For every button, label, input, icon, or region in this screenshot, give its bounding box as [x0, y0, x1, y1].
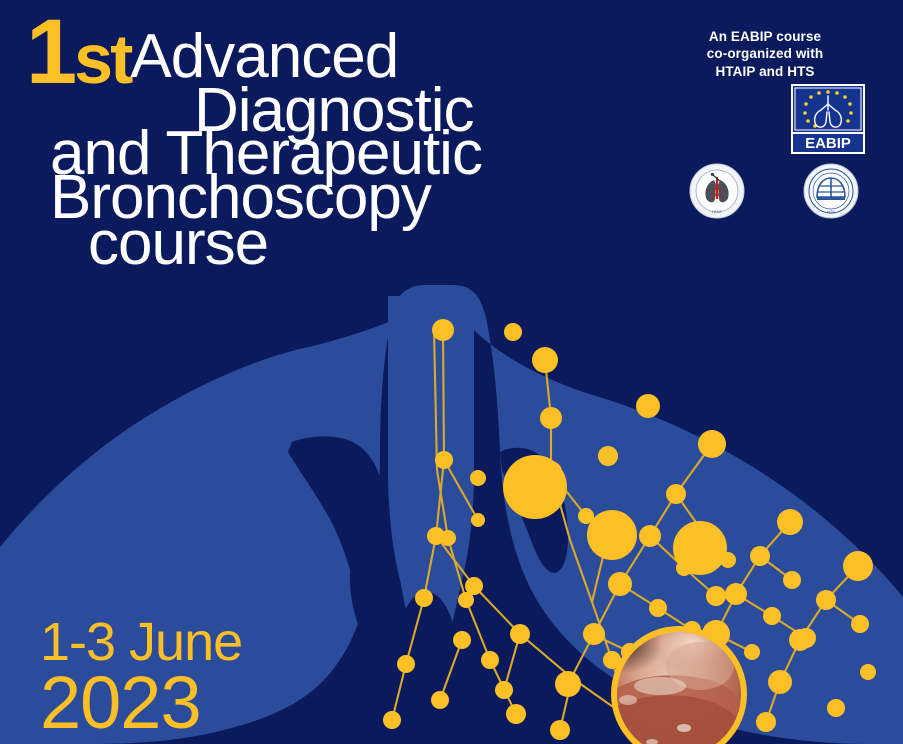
hts-logo-label: HTS	[827, 210, 835, 214]
title-ordinal-suffix: st	[74, 20, 130, 98]
eabip-logo-label: EABIP	[805, 135, 851, 152]
event-date: 1-3 June 2023	[40, 615, 242, 740]
title-ordinal: 1	[26, 1, 74, 103]
credit-line-1: An EABIP course	[665, 28, 865, 45]
htaip-logo: HTAIP	[689, 163, 745, 219]
logo-group: EABIP HTAIP	[665, 84, 865, 219]
event-date-year: 2023	[40, 665, 242, 740]
hts-logo: HTS	[803, 163, 859, 219]
page-title: 1stAdvanced Diagnostic and Therapeutic B…	[26, 10, 626, 272]
credit-line-2: co-organized with	[665, 45, 865, 62]
eabip-logo: EABIP	[791, 84, 865, 154]
credit-line-3: HTAIP and HTS	[665, 63, 865, 80]
poster: 1stAdvanced Diagnostic and Therapeutic B…	[0, 0, 903, 744]
credit-text: An EABIP course co-organized with HTAIP …	[665, 28, 865, 80]
htaip-logo-label: HTAIP	[712, 210, 722, 214]
